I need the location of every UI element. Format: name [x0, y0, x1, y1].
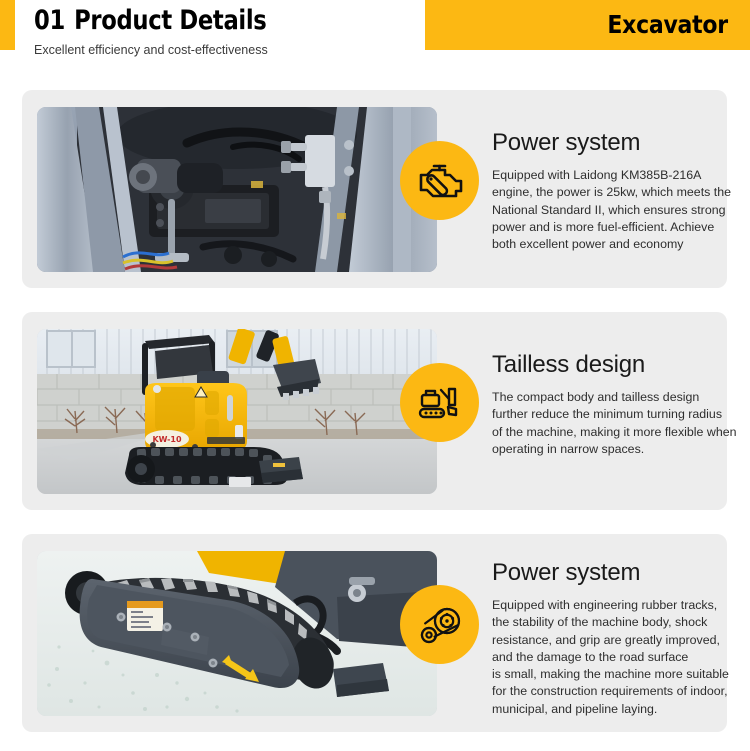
page-subtitle: Excellent efficiency and cost-effectiven… [34, 42, 434, 58]
belt-pulley-icon [400, 585, 479, 664]
feature-card-body: Equipped with Laidong KM385B-216A engine… [492, 167, 734, 253]
excavator-exterior-photo: KW-10 [37, 329, 437, 494]
engine-block-icon-glyph [417, 161, 463, 201]
feature-card-text: Tailless design The compact body and tai… [492, 350, 734, 458]
page-header: 01Product Details Excellent efficiency a… [0, 0, 750, 76]
header-left-group: 01Product Details Excellent efficiency a… [34, 4, 434, 58]
body-line: National Standard II, which ensures stro… [492, 202, 734, 219]
feature-card-body: Equipped with engineering rubber tracks,… [492, 597, 734, 718]
header-banner-label: Excavator [608, 8, 728, 42]
rubber-track-photo-graphic [37, 551, 437, 716]
excavator-icon [400, 363, 479, 442]
body-line: and the damage to the road surface [492, 649, 734, 666]
svg-text:KW-10: KW-10 [152, 435, 182, 444]
body-line: power and is more fuel-efficient. Achiev… [492, 219, 734, 236]
feature-card-text: Power system Equipped with engineering r… [492, 558, 734, 718]
product-details-page: 01Product Details Excellent efficiency a… [0, 0, 750, 751]
feature-card-body: The compact body and tailless design fur… [492, 389, 734, 458]
excavator-icon-glyph [417, 383, 463, 423]
page-title-text: Product Details [74, 5, 266, 36]
body-line: for the construction requirements of ind… [492, 683, 734, 700]
belt-pulley-icon-glyph [417, 604, 463, 646]
body-line: is small, making the machine more suitab… [492, 666, 734, 683]
body-line: both excellent power and economy [492, 236, 734, 253]
engine-bay-photo [37, 107, 437, 272]
header-banner: Excavator [425, 0, 750, 50]
engine-bay-photo-graphic [37, 107, 437, 272]
rubber-track-photo [37, 551, 437, 716]
body-line: engine, the power is 25kw, which meets t… [492, 184, 734, 201]
body-line: operating in narrow spaces. [492, 441, 734, 458]
section-number: 01 [34, 5, 65, 36]
feature-card: KW-10 [22, 312, 727, 510]
page-title: 01Product Details [34, 4, 370, 38]
feature-card-heading: Tailless design [492, 350, 734, 380]
body-line: resistance, and grip are greatly improve… [492, 632, 734, 649]
body-line: The compact body and tailless design [492, 389, 734, 406]
header-accent-bar [0, 0, 15, 50]
feature-card: Power system Equipped with engineering r… [22, 534, 727, 732]
body-line: the stability of the machine body, shock [492, 614, 734, 631]
body-line: further reduce the minimum turning radiu… [492, 406, 734, 423]
body-line: of the machine, making it more flexible … [492, 424, 734, 441]
body-line: Equipped with engineering rubber tracks, [492, 597, 734, 614]
feature-card: Power system Equipped with Laidong KM385… [22, 90, 727, 288]
engine-block-icon [400, 141, 479, 220]
body-line: Equipped with Laidong KM385B-216A [492, 167, 734, 184]
body-line: municipal, and pipeline laying. [492, 701, 734, 718]
excavator-exterior-photo-graphic: KW-10 [37, 329, 437, 494]
feature-card-heading: Power system [492, 128, 734, 158]
feature-card-text: Power system Equipped with Laidong KM385… [492, 128, 734, 253]
feature-card-heading: Power system [492, 558, 734, 588]
